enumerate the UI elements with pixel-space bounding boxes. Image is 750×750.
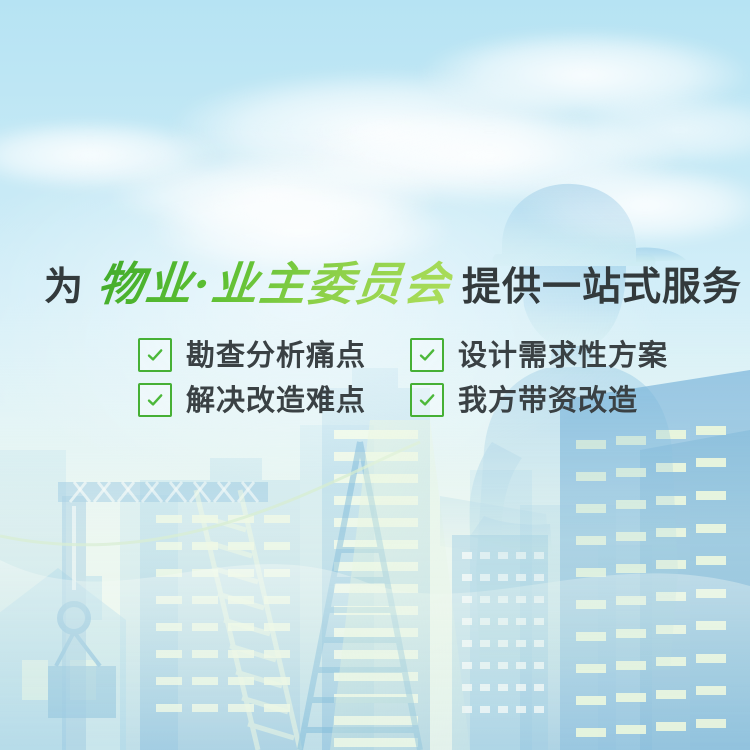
checkbox-checked-icon[interactable] bbox=[410, 383, 444, 417]
feature-list: 勘查分析痛点 设计需求性方案 bbox=[138, 338, 698, 428]
feature-item-3[interactable]: 解决改造难点 bbox=[138, 383, 410, 417]
checkbox-checked-icon[interactable] bbox=[138, 338, 172, 372]
feature-row: 勘查分析痛点 设计需求性方案 bbox=[138, 338, 698, 372]
headline-highlight: 物业·业主委员会 bbox=[95, 248, 456, 314]
headline-suffix: 提供一站式服务 bbox=[462, 256, 742, 312]
feature-item-2[interactable]: 设计需求性方案 bbox=[410, 338, 682, 372]
feature-label: 设计需求性方案 bbox=[458, 341, 668, 370]
feature-label: 解决改造难点 bbox=[186, 386, 366, 415]
headline: 为 物业·业主委员会 提供一站式服务 bbox=[44, 248, 742, 314]
feature-label: 勘查分析痛点 bbox=[186, 341, 366, 370]
feature-item-4[interactable]: 我方带资改造 bbox=[410, 383, 682, 417]
feature-row: 解决改造难点 我方带资改造 bbox=[138, 383, 698, 417]
feature-label: 我方带资改造 bbox=[458, 386, 638, 415]
banner-content: 为 物业·业主委员会 提供一站式服务 勘查分析痛点 bbox=[0, 0, 750, 750]
headline-prefix: 为 bbox=[44, 256, 84, 312]
banner-canvas: 为 物业·业主委员会 提供一站式服务 勘查分析痛点 bbox=[0, 0, 750, 750]
checkbox-checked-icon[interactable] bbox=[138, 383, 172, 417]
feature-item-1[interactable]: 勘查分析痛点 bbox=[138, 338, 410, 372]
checkbox-checked-icon[interactable] bbox=[410, 338, 444, 372]
